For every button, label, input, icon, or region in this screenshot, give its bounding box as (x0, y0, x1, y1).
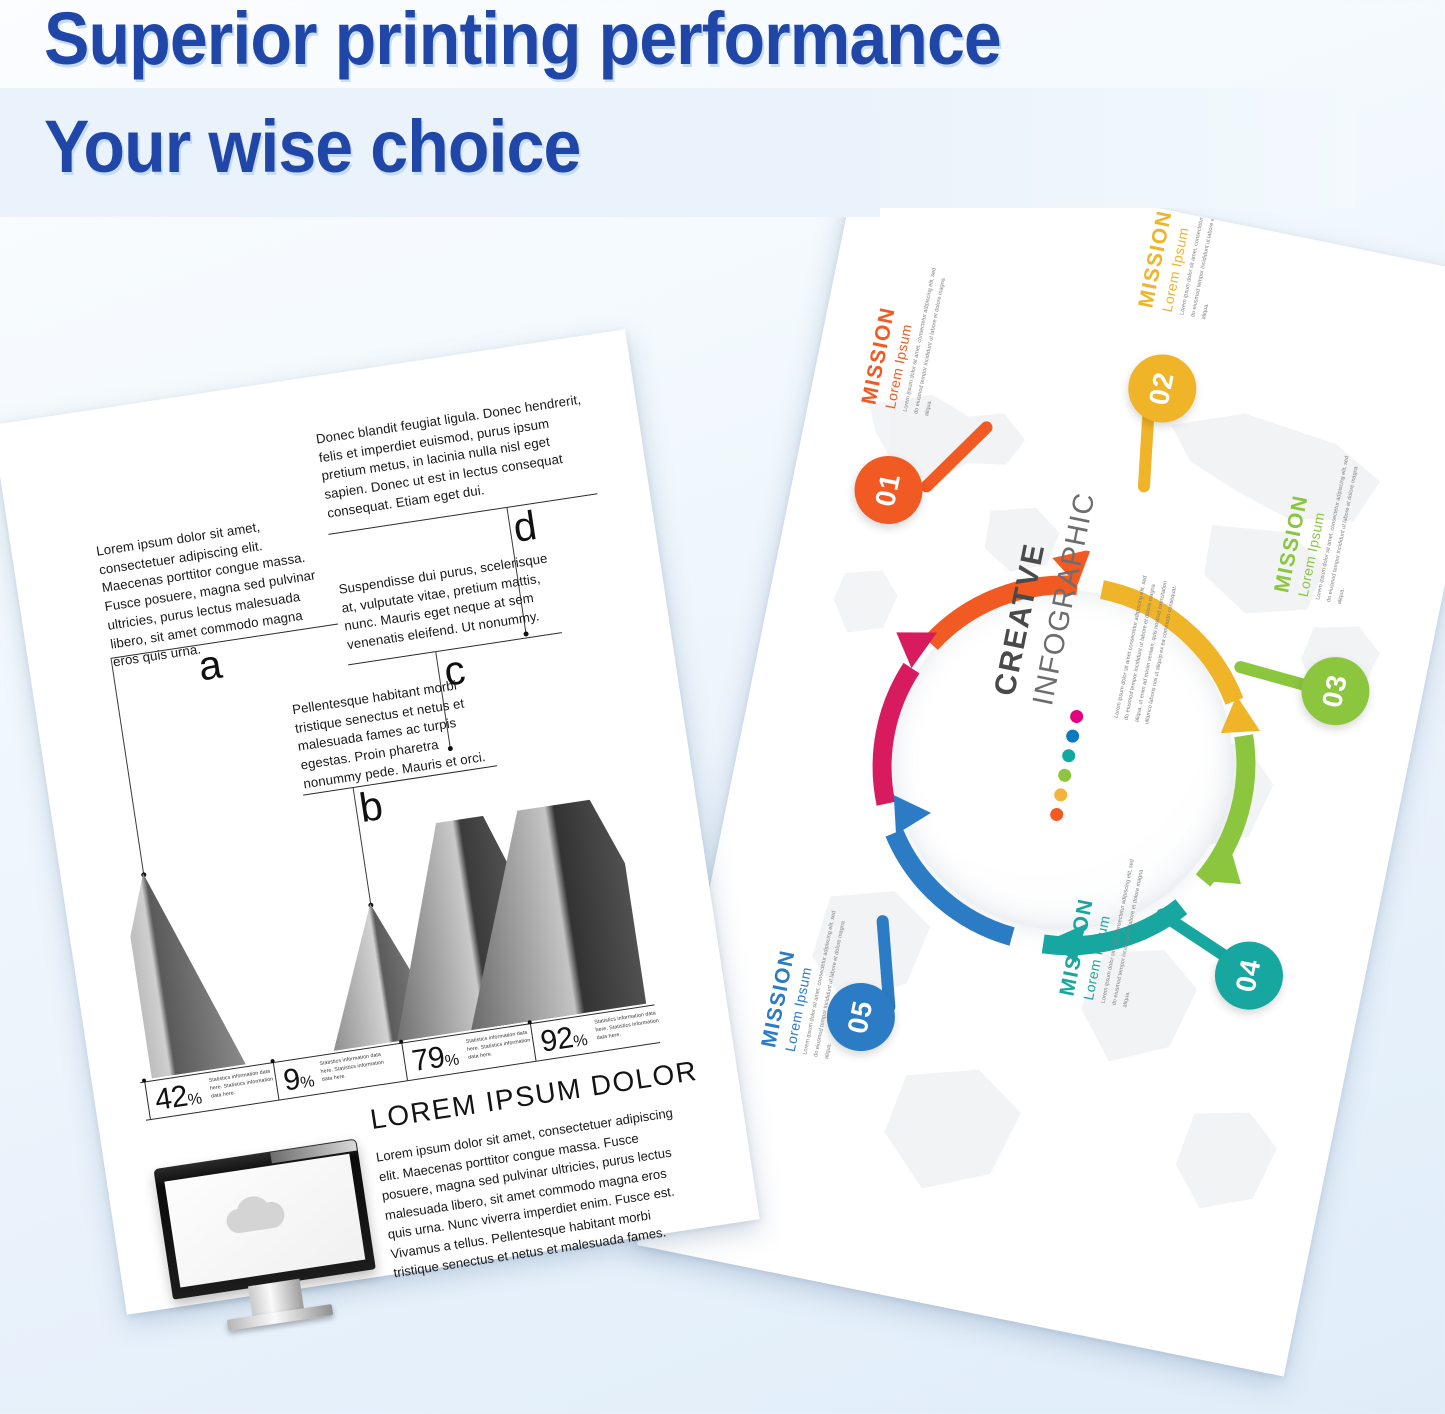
percent-sign: % (444, 1051, 460, 1070)
leader-dot-d (523, 631, 529, 637)
stat-value-4: 92% (538, 1019, 589, 1060)
stat-value-3: 79% (410, 1039, 461, 1080)
center-dot-5 (1053, 787, 1068, 802)
headline-line-2: Your wise choice (44, 104, 580, 189)
step-number-04: 04 (1230, 956, 1268, 995)
headline-line-1: Superior printing performance (44, 0, 1001, 81)
center-dot-6 (1049, 807, 1064, 822)
axis-tick (144, 1081, 151, 1119)
center-text-block: CREATVE INFOGRAPHIC Lorem ipsum dolor si… (862, 560, 1263, 961)
percent-sign: % (572, 1032, 588, 1051)
callout-letter-b: b (357, 785, 386, 829)
stat-value-2: 9% (281, 1060, 316, 1098)
leader-line-a (111, 659, 145, 875)
paragraph-b: Pellentesque habitant morbi tristique se… (291, 673, 495, 794)
step-number-05: 05 (842, 998, 880, 1037)
paragraph-c: Suspendisse dui purus, scelerisque at, v… (338, 549, 559, 655)
step-number-02: 02 (1143, 369, 1181, 408)
center-dot-2 (1065, 728, 1080, 743)
left-document-page[interactable]: Lorem ipsum dolor sit amet, consectetuer… (0, 329, 760, 1315)
paragraph-d: Donec blandit feugiat ligula. Donec hend… (315, 391, 594, 524)
headline-block: Superior printing performance Your wise … (0, 0, 1400, 215)
infographic-content: 01 02 03 04 05 CREATVE INFOGRAPHIC (637, 147, 1445, 1376)
center-dot-list (1048, 709, 1085, 829)
center-dot-1 (1069, 709, 1084, 724)
step-number-01: 01 (870, 471, 908, 510)
percent-sign: % (299, 1073, 315, 1092)
stat-value-1: 42% (153, 1077, 204, 1118)
poster-stage: Superior printing performance Your wise … (0, 0, 1445, 1414)
document-footer-body: Lorem ipsum dolor sit amet, consectetuer… (375, 1103, 692, 1283)
stat-number-1: 42 (153, 1079, 190, 1116)
percent-sign: % (187, 1090, 203, 1109)
center-dot-3 (1061, 748, 1076, 763)
stat-number-4: 92 (538, 1021, 575, 1058)
center-dot-4 (1057, 768, 1072, 783)
callout-letter-d: d (511, 505, 540, 549)
right-infographic-page[interactable]: 01 02 03 04 05 CREATVE INFOGRAPHIC (637, 147, 1445, 1376)
stat-number-3: 79 (410, 1041, 447, 1078)
left-document-content: Lorem ipsum dolor sit amet, consectetuer… (0, 329, 760, 1315)
step-number-03: 03 (1316, 672, 1354, 711)
